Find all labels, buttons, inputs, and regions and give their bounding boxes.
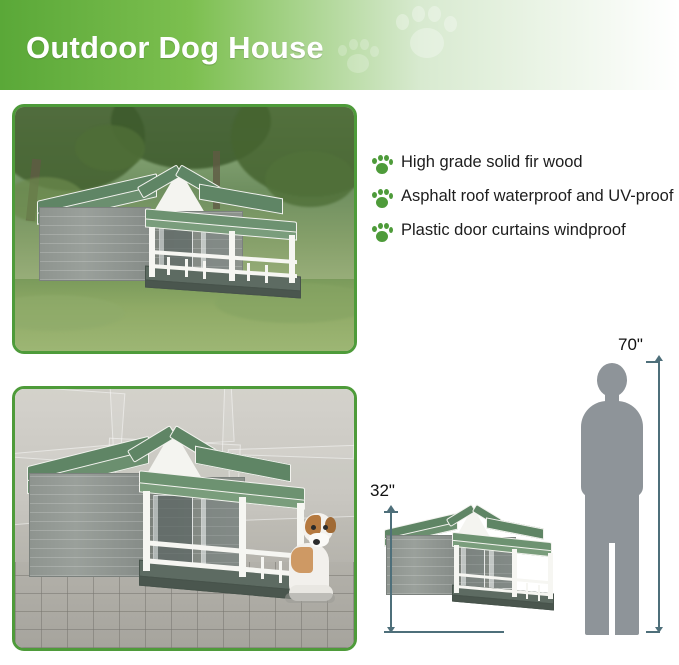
list-item-label: Asphalt roof waterproof and UV-proof xyxy=(401,186,673,207)
tick-mark xyxy=(646,631,660,633)
list-item: Asphalt roof waterproof and UV-proof xyxy=(372,186,678,209)
house-height-line xyxy=(390,511,392,633)
dog-house-scale-illustration xyxy=(382,503,568,635)
house-height-label: 32" xyxy=(370,481,395,501)
paw-print-icon xyxy=(336,38,380,82)
person-silhouette xyxy=(575,363,649,635)
list-item: Plastic door curtains windproof xyxy=(372,220,678,243)
dog-house-illustration xyxy=(33,159,333,319)
feature-list: High grade solid fir wood Asphalt roof w… xyxy=(372,152,678,254)
tick-mark xyxy=(646,361,660,363)
dog-house-with-dog-photo xyxy=(12,386,357,651)
paw-print-bullet-icon xyxy=(372,223,392,243)
page-title: Outdoor Dog House xyxy=(26,30,324,66)
dog-illustration xyxy=(273,513,347,623)
list-item-label: High grade solid fir wood xyxy=(401,152,583,173)
list-item-label: Plastic door curtains windproof xyxy=(401,220,626,241)
tick-mark xyxy=(384,511,398,513)
paw-print-bullet-icon xyxy=(372,155,392,175)
header-banner: Outdoor Dog House xyxy=(0,0,679,90)
paw-print-bullet-icon xyxy=(372,189,392,209)
list-item: High grade solid fir wood xyxy=(372,152,678,175)
paw-print-icon xyxy=(392,4,462,74)
dog-house-on-grass-photo xyxy=(12,104,357,354)
product-infographic: Outdoor Dog House High grade solid fir w… xyxy=(0,0,679,665)
person-height-line xyxy=(658,361,660,633)
baseline xyxy=(384,631,504,633)
size-comparison-diagram: 70" 32" xyxy=(370,335,670,655)
person-height-label: 70" xyxy=(618,335,643,355)
